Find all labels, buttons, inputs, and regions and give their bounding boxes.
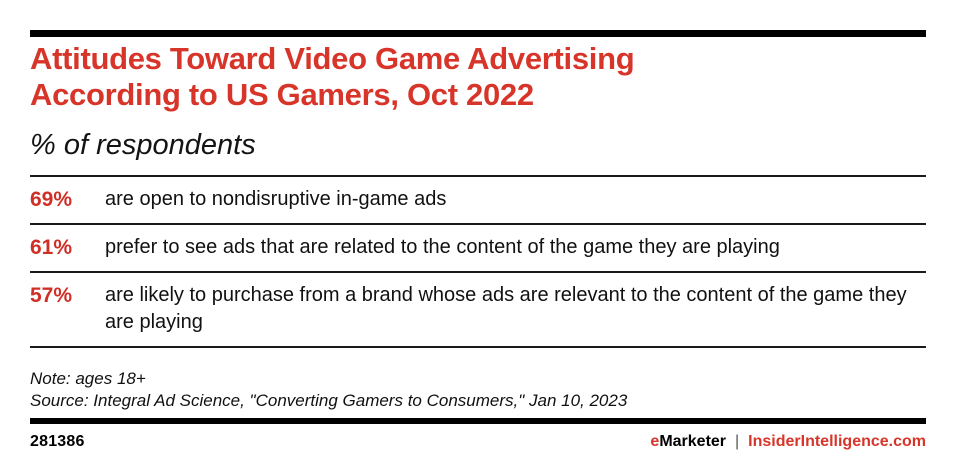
bottom-rule bbox=[30, 418, 926, 424]
table-row: 57% are likely to purchase from a brand … bbox=[30, 273, 926, 346]
top-rule bbox=[30, 30, 926, 37]
footer: 281386 eMarketer | InsiderIntelligence.c… bbox=[30, 430, 926, 454]
title-line-1: Attitudes Toward Video Game Advertising bbox=[30, 41, 926, 77]
chart-inner: Attitudes Toward Video Game Advertising … bbox=[30, 0, 926, 476]
table-bottom-rule bbox=[30, 346, 926, 348]
stat-value: 57% bbox=[30, 282, 105, 309]
stat-value: 61% bbox=[30, 234, 105, 261]
footnotes: Note: ages 18+ Source: Integral Ad Scien… bbox=[30, 368, 926, 412]
note-text: Note: ages 18+ bbox=[30, 368, 926, 390]
brand-separator: | bbox=[735, 433, 739, 451]
table-row: 69% are open to nondisruptive in-game ad… bbox=[30, 177, 926, 223]
brand-website: InsiderIntelligence.com bbox=[748, 433, 926, 451]
table-row: 61% prefer to see ads that are related t… bbox=[30, 225, 926, 271]
chart-subtitle: % of respondents bbox=[30, 128, 256, 162]
brand-name: Marketer bbox=[659, 433, 726, 451]
stats-table: 69% are open to nondisruptive in-game ad… bbox=[30, 175, 926, 348]
stat-label: prefer to see ads that are related to th… bbox=[105, 234, 926, 261]
stat-label: are open to nondisruptive in-game ads bbox=[105, 186, 926, 213]
brand-prefix: e bbox=[650, 433, 659, 451]
stat-label: are likely to purchase from a brand whos… bbox=[105, 282, 926, 336]
brand-lockup: eMarketer | InsiderIntelligence.com bbox=[650, 433, 926, 451]
chart-id: 281386 bbox=[30, 433, 85, 451]
emarketer-chart-card: Attitudes Toward Video Game Advertising … bbox=[0, 0, 962, 476]
source-text: Source: Integral Ad Science, "Converting… bbox=[30, 390, 926, 412]
title-line-2: According to US Gamers, Oct 2022 bbox=[30, 77, 926, 113]
page-title: Attitudes Toward Video Game Advertising … bbox=[30, 41, 926, 113]
stat-value: 69% bbox=[30, 186, 105, 213]
